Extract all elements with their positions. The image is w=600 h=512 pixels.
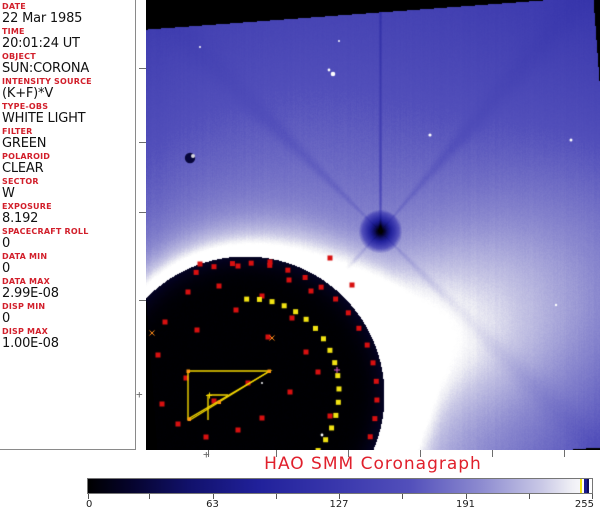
colorbar-tick-label: 0 — [86, 499, 92, 510]
colorbar-minor-tick — [529, 494, 530, 499]
metadata-value: (K+F)*V — [2, 86, 135, 101]
metadata-label: SECTOR — [2, 177, 135, 186]
axis-crosshair-marker: + — [136, 389, 143, 400]
y-axis-tick — [139, 300, 146, 301]
metadata-label: TIME — [2, 27, 135, 36]
coronagraph-display: DATE22 Mar 1985TIME20:01:24 UTOBJECTSUN:… — [0, 0, 600, 512]
metadata-value: CLEAR — [2, 161, 135, 176]
metadata-label: OBJECT — [2, 52, 135, 61]
metadata-label: TYPE-OBS — [2, 102, 135, 111]
colorbar-gradient — [88, 479, 592, 493]
colorbar-axis: 063127191255 — [87, 494, 593, 512]
colorbar-tick-label: 255 — [575, 499, 594, 510]
metadata-panel: DATE22 Mar 1985TIME20:01:24 UTOBJECTSUN:… — [0, 0, 136, 450]
metadata-label: FILTER — [2, 127, 135, 136]
metadata-label: SPACECRAFT ROLL — [2, 227, 135, 236]
colorbar — [87, 478, 593, 494]
colorbar-overflow-band — [587, 479, 589, 493]
metadata-label: DATA MAX — [2, 277, 135, 286]
y-axis-tick — [139, 212, 146, 213]
metadata-value: 1.00E-08 — [2, 336, 135, 351]
metadata-value: SUN:CORONA — [2, 61, 135, 76]
metadata-field: SECTORW — [2, 177, 135, 201]
metadata-label: DISP MIN — [2, 302, 135, 311]
metadata-label: POLAROID — [2, 152, 135, 161]
metadata-value: 0 — [2, 311, 135, 326]
metadata-field: EXPOSURE8.192 — [2, 202, 135, 226]
chart-title: HAO SMM Coronagraph — [146, 455, 600, 473]
corona-image — [146, 0, 600, 450]
metadata-field: TIME20:01:24 UT — [2, 27, 135, 51]
colorbar-minor-tick — [402, 494, 403, 499]
y-axis-tick — [139, 68, 146, 69]
metadata-value: 22 Mar 1985 — [2, 11, 135, 26]
colorbar-minor-tick — [276, 494, 277, 499]
metadata-value: 0 — [2, 261, 135, 276]
colorbar-tick-label: 127 — [329, 499, 348, 510]
metadata-field: POLAROIDCLEAR — [2, 152, 135, 176]
metadata-field: DATE22 Mar 1985 — [2, 2, 135, 26]
metadata-value: GREEN — [2, 136, 135, 151]
metadata-field: DISP MAX1.00E-08 — [2, 327, 135, 351]
metadata-label: EXPOSURE — [2, 202, 135, 211]
colorbar-tick-label: 191 — [456, 499, 475, 510]
corona-image-area — [146, 0, 600, 450]
colorbar-tick-label: 63 — [206, 499, 219, 510]
metadata-value: 8.192 — [2, 211, 135, 226]
metadata-field: DATA MAX2.99E-08 — [2, 277, 135, 301]
metadata-value: 2.99E-08 — [2, 286, 135, 301]
metadata-value: 20:01:24 UT — [2, 36, 135, 51]
metadata-field: INTENSITY SOURCE(K+F)*V — [2, 77, 135, 101]
metadata-field: DISP MIN0 — [2, 302, 135, 326]
colorbar-minor-tick — [149, 494, 150, 499]
metadata-field: FILTERGREEN — [2, 127, 135, 151]
metadata-value: WHITE LIGHT — [2, 111, 135, 126]
metadata-label: DISP MAX — [2, 327, 135, 336]
metadata-label: INTENSITY SOURCE — [2, 77, 135, 86]
metadata-field: SPACECRAFT ROLL0 — [2, 227, 135, 251]
metadata-field: OBJECTSUN:CORONA — [2, 52, 135, 76]
metadata-field: TYPE-OBSWHITE LIGHT — [2, 102, 135, 126]
metadata-label: DATE — [2, 2, 135, 11]
metadata-value: 0 — [2, 236, 135, 251]
y-axis-tick — [139, 142, 146, 143]
metadata-label: DATA MIN — [2, 252, 135, 261]
metadata-field: DATA MIN0 — [2, 252, 135, 276]
metadata-value: W — [2, 186, 135, 201]
